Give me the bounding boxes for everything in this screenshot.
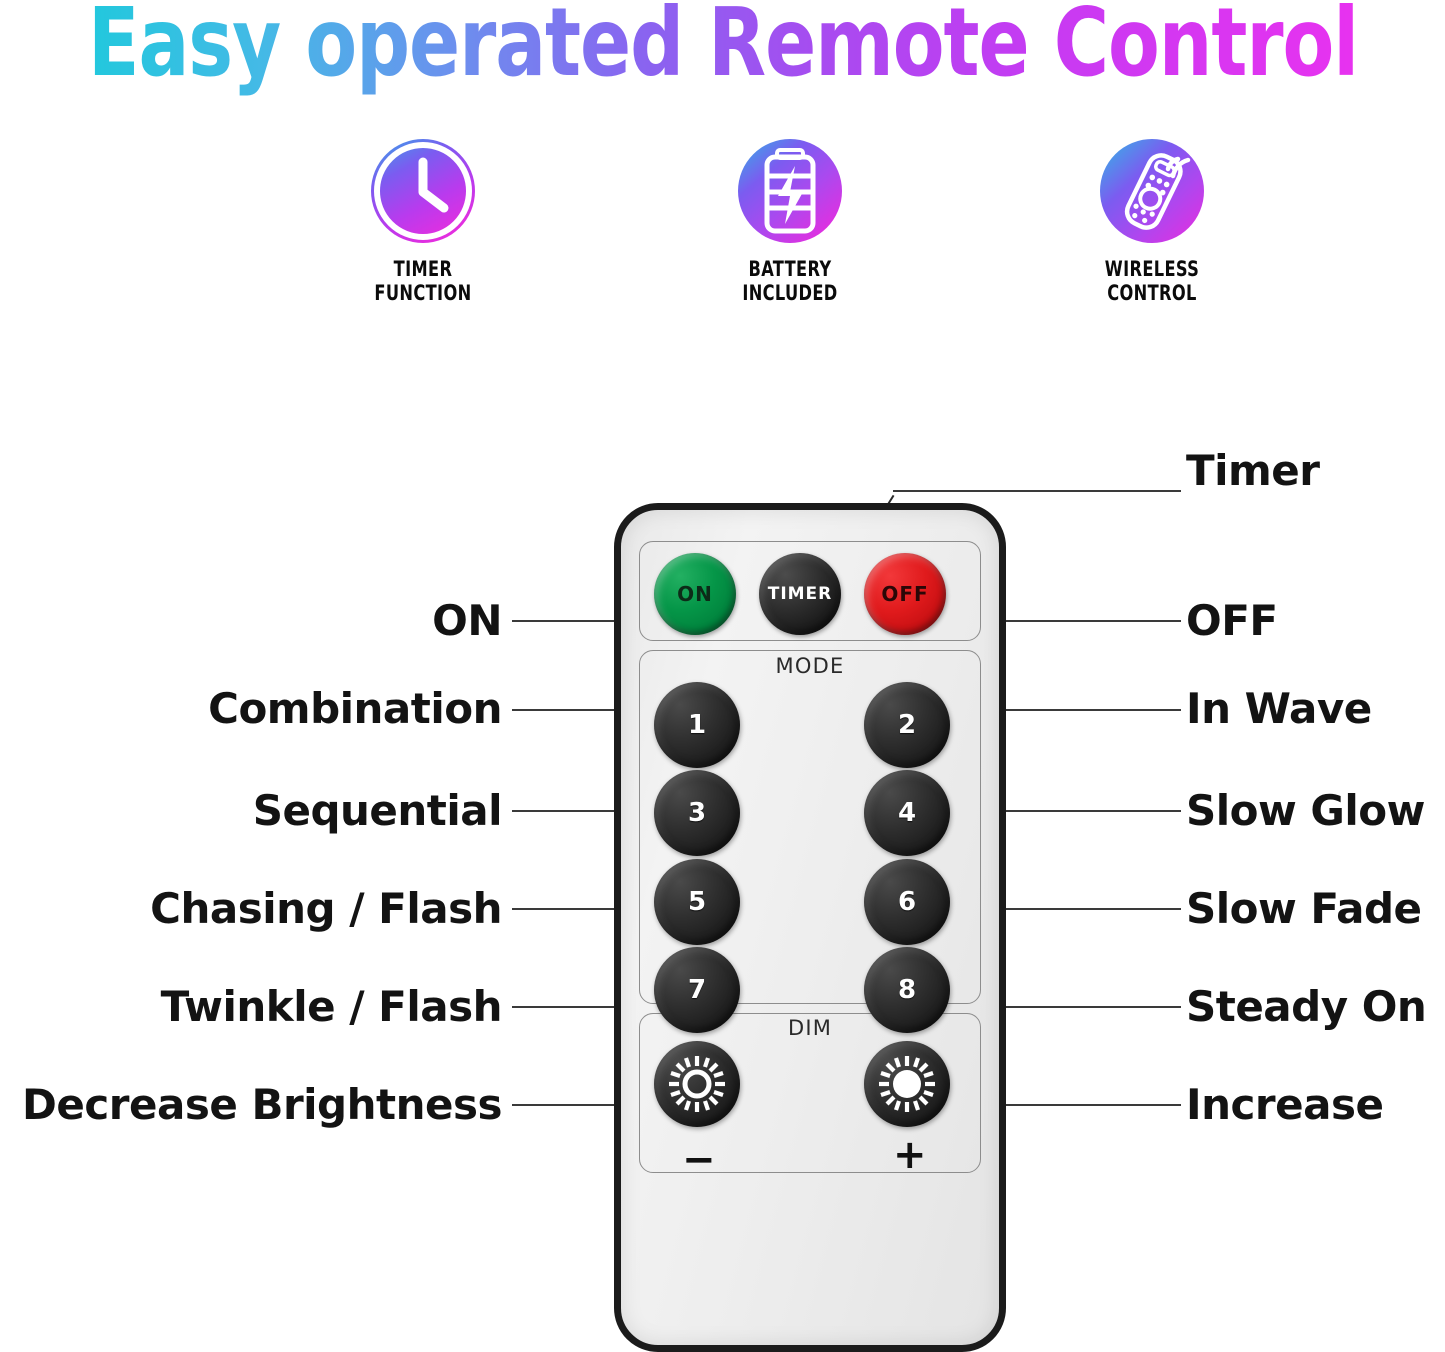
feature-caption-line2: CONTROL <box>1040 282 1264 306</box>
callout-sequential: Sequential <box>253 786 502 835</box>
callout-twinkle-flash: Twinkle / Flash <box>161 982 502 1031</box>
mode-button-4[interactable]: 4 <box>864 770 950 856</box>
callout-slow-fade: Slow Fade <box>1186 884 1422 933</box>
page-title: Easy operated Remote Control <box>88 0 1358 97</box>
feature-caption-line2: FUNCTION <box>311 282 535 306</box>
title-bar: Easy operated Remote Control <box>0 0 1445 92</box>
sun-filled-icon <box>876 1053 938 1115</box>
feature-caption-line1: BATTERY <box>678 258 902 282</box>
dim-decrease-button[interactable] <box>654 1041 740 1127</box>
mode-button-1[interactable]: 1 <box>654 682 740 768</box>
feature-caption-line2: INCLUDED <box>678 282 902 306</box>
mode-button-8[interactable]: 8 <box>864 947 950 1033</box>
clock-icon <box>368 136 478 246</box>
feature-caption: TIMER FUNCTION <box>311 258 535 305</box>
battery-icon <box>735 136 845 246</box>
on-button[interactable]: ON <box>654 553 736 635</box>
callout-increase: Increase <box>1186 1080 1383 1129</box>
feature-caption-line1: TIMER <box>311 258 535 282</box>
callout-off: OFF <box>1186 596 1278 645</box>
dim-plus-symbol: + <box>893 1135 927 1175</box>
feature-battery-included: BATTERY INCLUDED <box>660 136 920 305</box>
mode-button-3[interactable]: 3 <box>654 770 740 856</box>
feature-caption: WIRELESS CONTROL <box>1040 258 1264 305</box>
callout-timer: Timer <box>1186 446 1320 495</box>
callout-combination: Combination <box>208 684 502 733</box>
mode-button-5[interactable]: 5 <box>654 859 740 945</box>
mode-button-2[interactable]: 2 <box>864 682 950 768</box>
feature-wireless-control: WIRELESS CONTROL <box>1022 136 1282 305</box>
feature-caption-line1: WIRELESS <box>1040 258 1264 282</box>
leader-line-timer <box>893 490 1181 492</box>
remote-control-device: MODE DIM ON TIMER OFF 1 2 3 4 5 6 7 8 <box>614 503 1006 1352</box>
mode-button-7[interactable]: 7 <box>654 947 740 1033</box>
feature-timer-function: TIMER FUNCTION <box>293 136 553 305</box>
callout-steady-on: Steady On <box>1186 982 1426 1031</box>
callout-slow-glow: Slow Glow <box>1186 786 1425 835</box>
callout-on: ON <box>432 596 502 645</box>
dim-increase-button[interactable] <box>864 1041 950 1127</box>
mode-panel-label: MODE <box>621 654 999 678</box>
feature-caption: BATTERY INCLUDED <box>678 258 902 305</box>
callout-chasing-flash: Chasing / Flash <box>150 884 502 933</box>
dim-minus-symbol: − <box>682 1140 716 1180</box>
remote-signal-icon <box>1097 136 1207 246</box>
off-button[interactable]: OFF <box>864 553 946 635</box>
callout-in-wave: In Wave <box>1186 684 1372 733</box>
mode-button-6[interactable]: 6 <box>864 859 950 945</box>
timer-button[interactable]: TIMER <box>759 553 841 635</box>
sun-hollow-icon <box>666 1053 728 1115</box>
callout-decrease-brightness: Decrease Brightness <box>22 1080 502 1129</box>
